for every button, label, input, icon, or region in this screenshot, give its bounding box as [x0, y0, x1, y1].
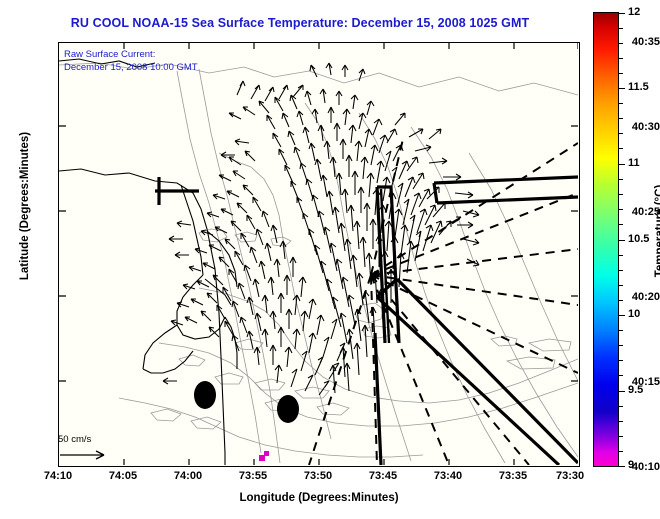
scale-arrow-icon — [58, 448, 114, 462]
colorbar-minor-tick — [619, 118, 623, 119]
colorbar-minor-tick — [619, 270, 623, 271]
radar-site-marker — [194, 381, 216, 409]
colorbar-minor-tick — [619, 285, 623, 286]
dashed-radial-lines — [309, 139, 578, 465]
colorbar-minor-tick — [619, 28, 623, 29]
colorbar-tick-label: 9.5 — [628, 384, 643, 396]
colorbar-tick — [619, 164, 625, 165]
colorbar — [593, 12, 619, 467]
colorbar-minor-tick — [619, 345, 623, 346]
colorbar-minor-tick — [619, 103, 623, 104]
scale-legend-label: 50 cm/s — [58, 434, 91, 445]
map-canvas — [59, 43, 578, 465]
colorbar-tick-label: 9 — [628, 459, 634, 471]
x-tick-label: 73:30 — [556, 470, 594, 482]
radar-site-marker — [277, 395, 299, 423]
colorbar-tick — [619, 88, 625, 89]
x-tick-label: 74:05 — [101, 470, 145, 482]
colorbar-tick — [619, 466, 625, 467]
x-tick-label: 73:50 — [296, 470, 340, 482]
colorbar-minor-tick — [619, 360, 623, 361]
colorbar-minor-tick — [619, 133, 623, 134]
colorbar-minor-tick — [619, 436, 623, 437]
colorbar-minor-tick — [619, 209, 623, 210]
colorbar-minor-tick — [619, 58, 623, 59]
colorbar-label: Temperature (°C) — [654, 131, 660, 331]
bathymetry-contours — [59, 63, 578, 463]
y-tick-label: 40:35 — [614, 36, 660, 48]
colorbar-tick — [619, 13, 625, 14]
page-title: RU COOL NOAA-15 Sea Surface Temperature:… — [0, 16, 600, 30]
annotation-line-2: December 15, 2008 10:00 GMT — [64, 61, 198, 74]
colorbar-minor-tick — [619, 224, 623, 225]
plot-area — [58, 42, 580, 467]
x-tick-label: 73:40 — [426, 470, 470, 482]
x-tick-label: 73:55 — [231, 470, 275, 482]
colorbar-minor-tick — [619, 148, 623, 149]
colorbar-tick — [619, 391, 625, 392]
x-tick-label: 74:00 — [166, 470, 210, 482]
colorbar-tick-label: 12 — [628, 6, 640, 18]
annotation-line-1: Raw Surface Current: — [64, 48, 198, 61]
colorbar-tick-label: 11 — [628, 157, 640, 169]
colorbar-minor-tick — [619, 330, 623, 331]
x-tick-label: 73:35 — [491, 470, 535, 482]
colorbar-minor-tick — [619, 406, 623, 407]
colorbar-tick-label: 11.5 — [628, 81, 649, 93]
colorbar-minor-tick — [619, 300, 623, 301]
colorbar-tick — [619, 240, 625, 241]
colorbar-minor-tick — [619, 451, 623, 452]
x-tick-label: 74:10 — [36, 470, 80, 482]
colorbar-minor-tick — [619, 179, 623, 180]
colorbar-tick — [619, 315, 625, 316]
y-axis-label: Latitude (Degrees:Minutes) — [19, 106, 31, 306]
colorbar-minor-tick — [619, 255, 623, 256]
plot-annotation: Raw Surface Current: December 15, 2008 1… — [64, 48, 198, 74]
colorbar-tick-label: 10.5 — [628, 233, 649, 245]
x-tick-label: 73:45 — [361, 470, 405, 482]
colorbar-minor-tick — [619, 73, 623, 74]
colorbar-minor-tick — [619, 43, 623, 44]
colorbar-minor-tick — [619, 421, 623, 422]
colorbar-minor-tick — [619, 375, 623, 376]
x-axis-label: Longitude (Degrees:Minutes) — [58, 492, 580, 504]
colorbar-tick-label: 10 — [628, 308, 640, 320]
colorbar-minor-tick — [619, 194, 623, 195]
sst-pixel-patch — [259, 451, 269, 461]
